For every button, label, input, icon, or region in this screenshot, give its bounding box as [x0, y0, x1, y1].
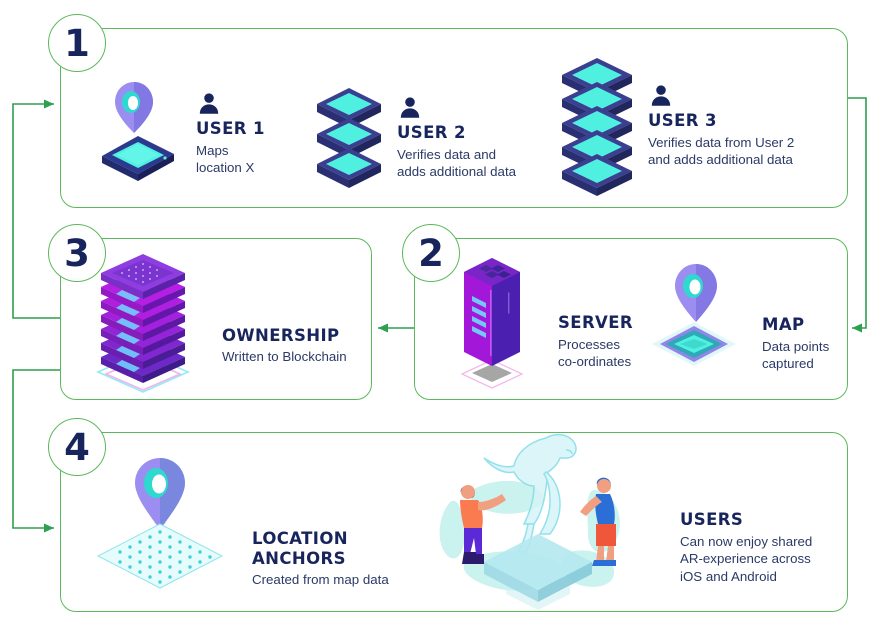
item-title: USER 1: [196, 119, 265, 138]
ar-dinosaur-scene-icon: [420, 424, 650, 610]
person-icon: [648, 83, 674, 109]
item-title: USER 2: [397, 123, 516, 142]
flow-diagram: 1 USER 1 Maps location X: [0, 0, 879, 641]
item-title: USER 3: [648, 111, 794, 130]
map-pin-chip-icon: [652, 262, 744, 382]
item-desc: Can now enjoy shared AR-experience acros…: [680, 533, 812, 586]
blockchain-stack-icon: [88, 252, 198, 388]
step-1-badge: 1: [48, 14, 106, 72]
step-4-item-users: USERS Can now enjoy shared AR-experience…: [420, 424, 812, 610]
step-2-item-map: MAP Data points captured: [652, 262, 829, 382]
phone-pin-icon: [96, 78, 188, 190]
item-desc: Processes co-ordinates: [558, 336, 633, 371]
item-desc: Verifies data from User 2 and adds addit…: [648, 134, 794, 169]
server-tower-icon: [452, 252, 532, 388]
step-1-item-user-2: USER 2 Verifies data and adds additional…: [315, 86, 516, 190]
step-3-item-ownership: OWNERSHIP Written to Blockchain: [88, 252, 347, 388]
item-desc: Created from map data: [252, 571, 389, 589]
item-title: LOCATION ANCHORS: [252, 529, 389, 568]
item-title: SERVER: [558, 313, 633, 332]
item-desc: Written to Blockchain: [222, 348, 347, 366]
item-title: USERS: [680, 510, 812, 529]
item-desc: Maps location X: [196, 142, 265, 177]
step-1-item-user-3: USER 3 Verifies data from User 2 and add…: [560, 56, 794, 196]
item-title: MAP: [762, 315, 829, 334]
step-4-item-location-anchors: LOCATION ANCHORS Created from map data: [100, 452, 389, 592]
step-2-item-server: SERVER Processes co-ordinates: [452, 252, 633, 388]
person-icon: [196, 91, 222, 117]
step-4-badge: 4: [48, 418, 106, 476]
layers-5-icon: [560, 56, 640, 196]
location-anchor-grid-icon: [100, 452, 230, 592]
item-title: OWNERSHIP: [222, 326, 347, 345]
item-desc: Verifies data and adds additional data: [397, 146, 516, 181]
item-desc: Data points captured: [762, 338, 829, 373]
layers-3-icon: [315, 86, 389, 190]
step-1-item-user-1: USER 1 Maps location X: [96, 78, 265, 190]
person-icon: [397, 95, 423, 121]
